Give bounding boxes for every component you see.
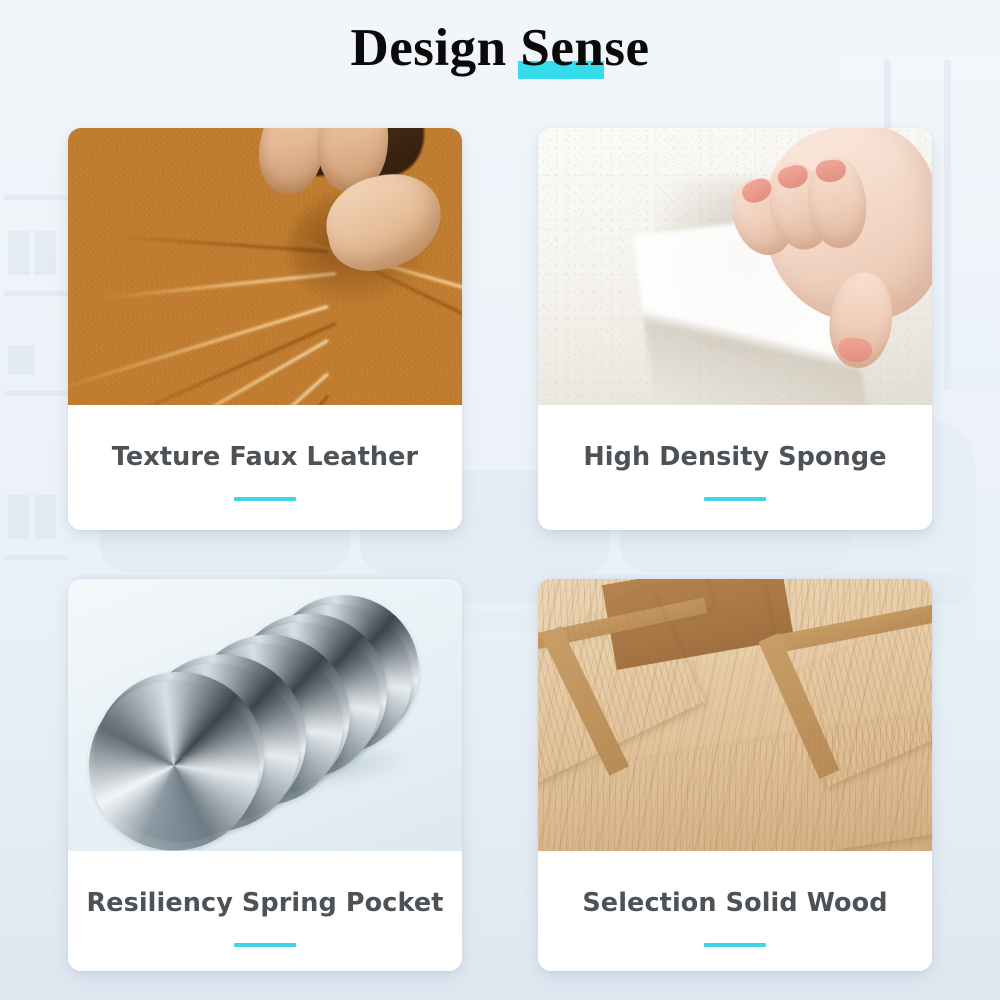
solid-pine-wood-photo [538, 579, 932, 851]
faux-leather-pinch-photo [68, 128, 462, 405]
feature-card-resiliency-spring-pocket[interactable]: Resiliency Spring Pocket [68, 579, 462, 971]
high-density-foam-photo [538, 128, 932, 405]
hand-pinching-leather [256, 128, 462, 298]
feature-card-high-density-sponge[interactable]: High Density Sponge [538, 128, 932, 530]
page-title-suffix: se [604, 19, 649, 77]
card-accent-rule [704, 497, 766, 501]
card-caption: Selection Solid Wood [538, 851, 932, 971]
card-accent-rule [234, 497, 296, 501]
page-title-highlight-text: Sen [520, 19, 604, 77]
card-label: Resiliency Spring Pocket [86, 888, 443, 918]
card-caption: High Density Sponge [538, 405, 932, 530]
hand-pressing-foam [712, 128, 932, 392]
card-label: High Density Sponge [583, 442, 886, 472]
coil-spring-graphic [76, 584, 457, 851]
infographic-page: Design Sense [0, 0, 1000, 1000]
coil-spring-photo [68, 579, 462, 851]
page-title-prefix: Design [350, 19, 520, 77]
card-label: Selection Solid Wood [582, 888, 887, 918]
card-caption: Resiliency Spring Pocket [68, 851, 462, 971]
card-accent-rule [234, 943, 296, 947]
feature-card-texture-faux-leather[interactable]: Texture Faux Leather [68, 128, 462, 530]
card-label: Texture Faux Leather [112, 442, 418, 472]
page-title-highlight-word: Sen [520, 22, 604, 75]
page-title: Design Sense [350, 22, 649, 75]
feature-card-selection-solid-wood[interactable]: Selection Solid Wood [538, 579, 932, 971]
card-caption: Texture Faux Leather [68, 405, 462, 530]
feature-card-grid: Texture Faux Leather [68, 128, 932, 973]
card-accent-rule [704, 943, 766, 947]
page-title-wrapper: Design Sense [0, 22, 1000, 75]
